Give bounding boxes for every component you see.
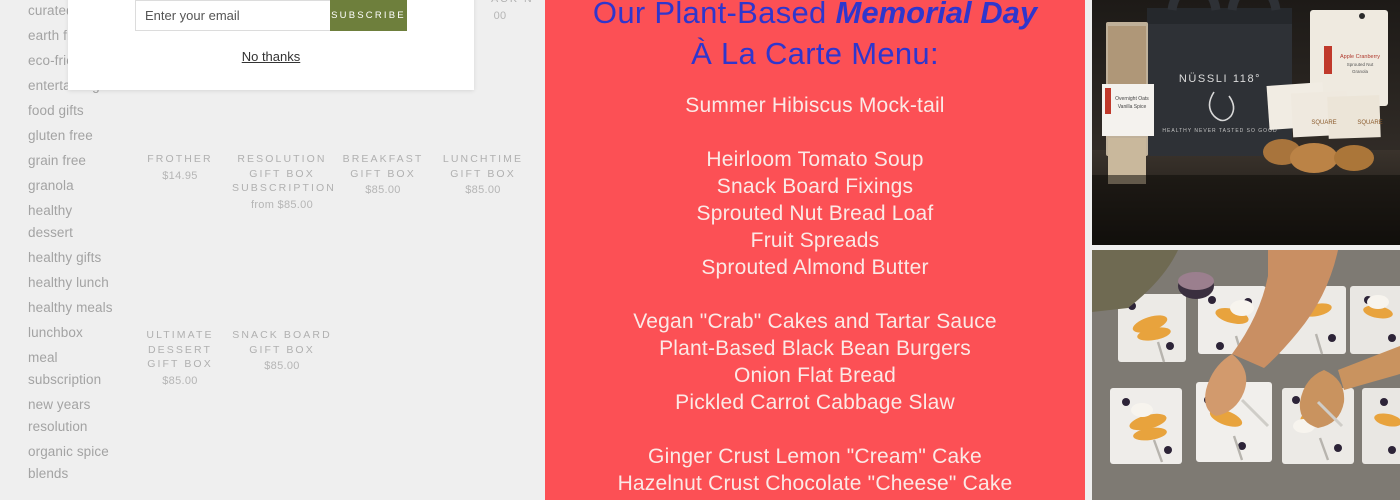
product-price: $85.00 (130, 375, 230, 387)
product-title: LUNCHTIME GIFT BOX (433, 152, 533, 181)
svg-text:Sprouted Nut: Sprouted Nut (1347, 62, 1374, 67)
product-title: ULTIMATE DESSERT GIFT BOX (130, 328, 230, 372)
sidebar-tag-gluten-free[interactable]: gluten free (28, 125, 120, 147)
menu-section-drinks: Summer Hibiscus Mock-tail (545, 92, 1085, 119)
product-card-breakfast-gift-box[interactable]: BREAKFAST GIFT BOX $85.00 (333, 152, 433, 196)
menu-item: Vegan "Crab" Cakes and Tartar Sauce (545, 308, 1085, 335)
product-card-lunchtime-gift-box[interactable]: LUNCHTIME GIFT BOX $85.00 (433, 152, 533, 196)
menu-item: Pickled Carrot Cabbage Slaw (545, 389, 1085, 416)
menu-item: Fruit Spreads (545, 227, 1085, 254)
menu-item: Plant-Based Black Bean Burgers (545, 335, 1085, 362)
menu-item: Summer Hibiscus Mock-tail (545, 92, 1085, 119)
sidebar-tag-lunchbox[interactable]: lunchbox (28, 322, 120, 344)
menu-section-starters: Heirloom Tomato Soup Snack Board Fixings… (545, 146, 1085, 281)
sidebar-tag-healthy-meals[interactable]: healthy meals (28, 297, 120, 319)
product-card-frother[interactable]: FROTHER $14.95 (130, 152, 230, 182)
product-title: BREAKFAST GIFT BOX (333, 152, 433, 181)
svg-text:Overnight Oats: Overnight Oats (1115, 96, 1149, 102)
svg-text:SQUARE: SQUARE (1311, 120, 1336, 126)
plating-photo[interactable] (1092, 250, 1400, 500)
dessert-plating-photo-graphic (1092, 250, 1400, 500)
sidebar-tag-healthy-gifts[interactable]: healthy gifts (28, 247, 120, 269)
menu-item: Onion Flat Bread (545, 362, 1085, 389)
sidebar-tag-granola[interactable]: granola (28, 175, 120, 197)
svg-text:Apple Cranberry: Apple Cranberry (1340, 54, 1380, 60)
sidebar-tag-healthy-dessert[interactable]: healthy dessert (28, 200, 120, 244)
product-photo-tote-bag[interactable]: NÜSSLI 118° HEALTHY NEVER TASTED SO GOOD… (1092, 0, 1400, 245)
product-price: $85.00 (232, 360, 332, 372)
svg-text:SQUARE: SQUARE (1357, 120, 1382, 126)
newsletter-popup: SUBSCRIBE No thanks (68, 0, 474, 90)
menu-item: Hazelnut Crust Chocolate "Cheese" Cake (545, 470, 1085, 497)
product-card-ultimate-dessert-gift-box[interactable]: ULTIMATE DESSERT GIFT BOX $85.00 (130, 328, 230, 387)
menu-item: Snack Board Fixings (545, 173, 1085, 200)
menu-section-mains: Vegan "Crab" Cakes and Tartar Sauce Plan… (545, 308, 1085, 416)
newsletter-form: SUBSCRIBE (135, 0, 407, 31)
menu-title-prefix: Our Plant-Based (593, 0, 836, 30)
subscribe-button[interactable]: SUBSCRIBE (330, 0, 407, 31)
sidebar-tag-organic-spice-blends[interactable]: organic spice blends (28, 441, 120, 485)
menu-item: Sprouted Nut Bread Loaf (545, 200, 1085, 227)
menu-item: Sprouted Almond Butter (545, 254, 1085, 281)
product-title: FROTHER (130, 152, 230, 167)
photo-column: NÜSSLI 118° HEALTHY NEVER TASTED SO GOOD… (1092, 0, 1400, 500)
no-thanks-link[interactable]: No thanks (68, 49, 474, 64)
product-card-resolution-gift-box-subscription[interactable]: RESOLUTION GIFT BOX SUBSCRIPTION from $8… (232, 152, 332, 211)
sidebar-tag-meal-subscription[interactable]: meal subscription (28, 347, 120, 391)
product-price: from $85.00 (232, 199, 332, 211)
tote-bag-photo-graphic: NÜSSLI 118° HEALTHY NEVER TASTED SO GOOD… (1092, 0, 1400, 245)
sidebar-tag-new-years-resolution[interactable]: new years resolution (28, 394, 120, 438)
product-card-snack-board-gift-box[interactable]: SNACK BOARD GIFT BOX $85.00 (232, 328, 332, 372)
email-input[interactable] (135, 0, 330, 31)
menu-item: Ginger Crust Lemon "Cream" Cake (545, 443, 1085, 470)
menu-title-line-1: Our Plant-Based Memorial Day (545, 0, 1085, 33)
product-price: $14.95 (130, 170, 230, 182)
svg-text:NÜSSLI 118°: NÜSSLI 118° (1179, 73, 1261, 85)
menu-section-desserts: Ginger Crust Lemon "Cream" Cake Hazelnut… (545, 443, 1085, 497)
sidebar-tag-food-gifts[interactable]: food gifts (28, 100, 120, 122)
product-price: $85.00 (333, 184, 433, 196)
product-title: SNACK BOARD GIFT BOX (232, 328, 332, 357)
svg-text:Vanilla Spice: Vanilla Spice (1118, 104, 1147, 110)
memorial-day-menu-panel: Our Plant-Based Memorial Day À La Carte … (545, 0, 1085, 500)
menu-item: Heirloom Tomato Soup (545, 146, 1085, 173)
product-title: RESOLUTION GIFT BOX SUBSCRIPTION (232, 152, 332, 196)
product-price: $85.00 (433, 184, 533, 196)
sidebar-tag-healthy-lunch[interactable]: healthy lunch (28, 272, 120, 294)
menu-title-script: Memorial Day (836, 0, 1038, 30)
svg-text:HEALTHY NEVER TASTED SO GOOD: HEALTHY NEVER TASTED SO GOOD (1162, 128, 1277, 134)
menu-title-line-2: À La Carte Menu: (545, 33, 1085, 74)
sidebar-tag-grain-free[interactable]: grain free (28, 150, 120, 172)
svg-text:Granola: Granola (1352, 69, 1369, 74)
